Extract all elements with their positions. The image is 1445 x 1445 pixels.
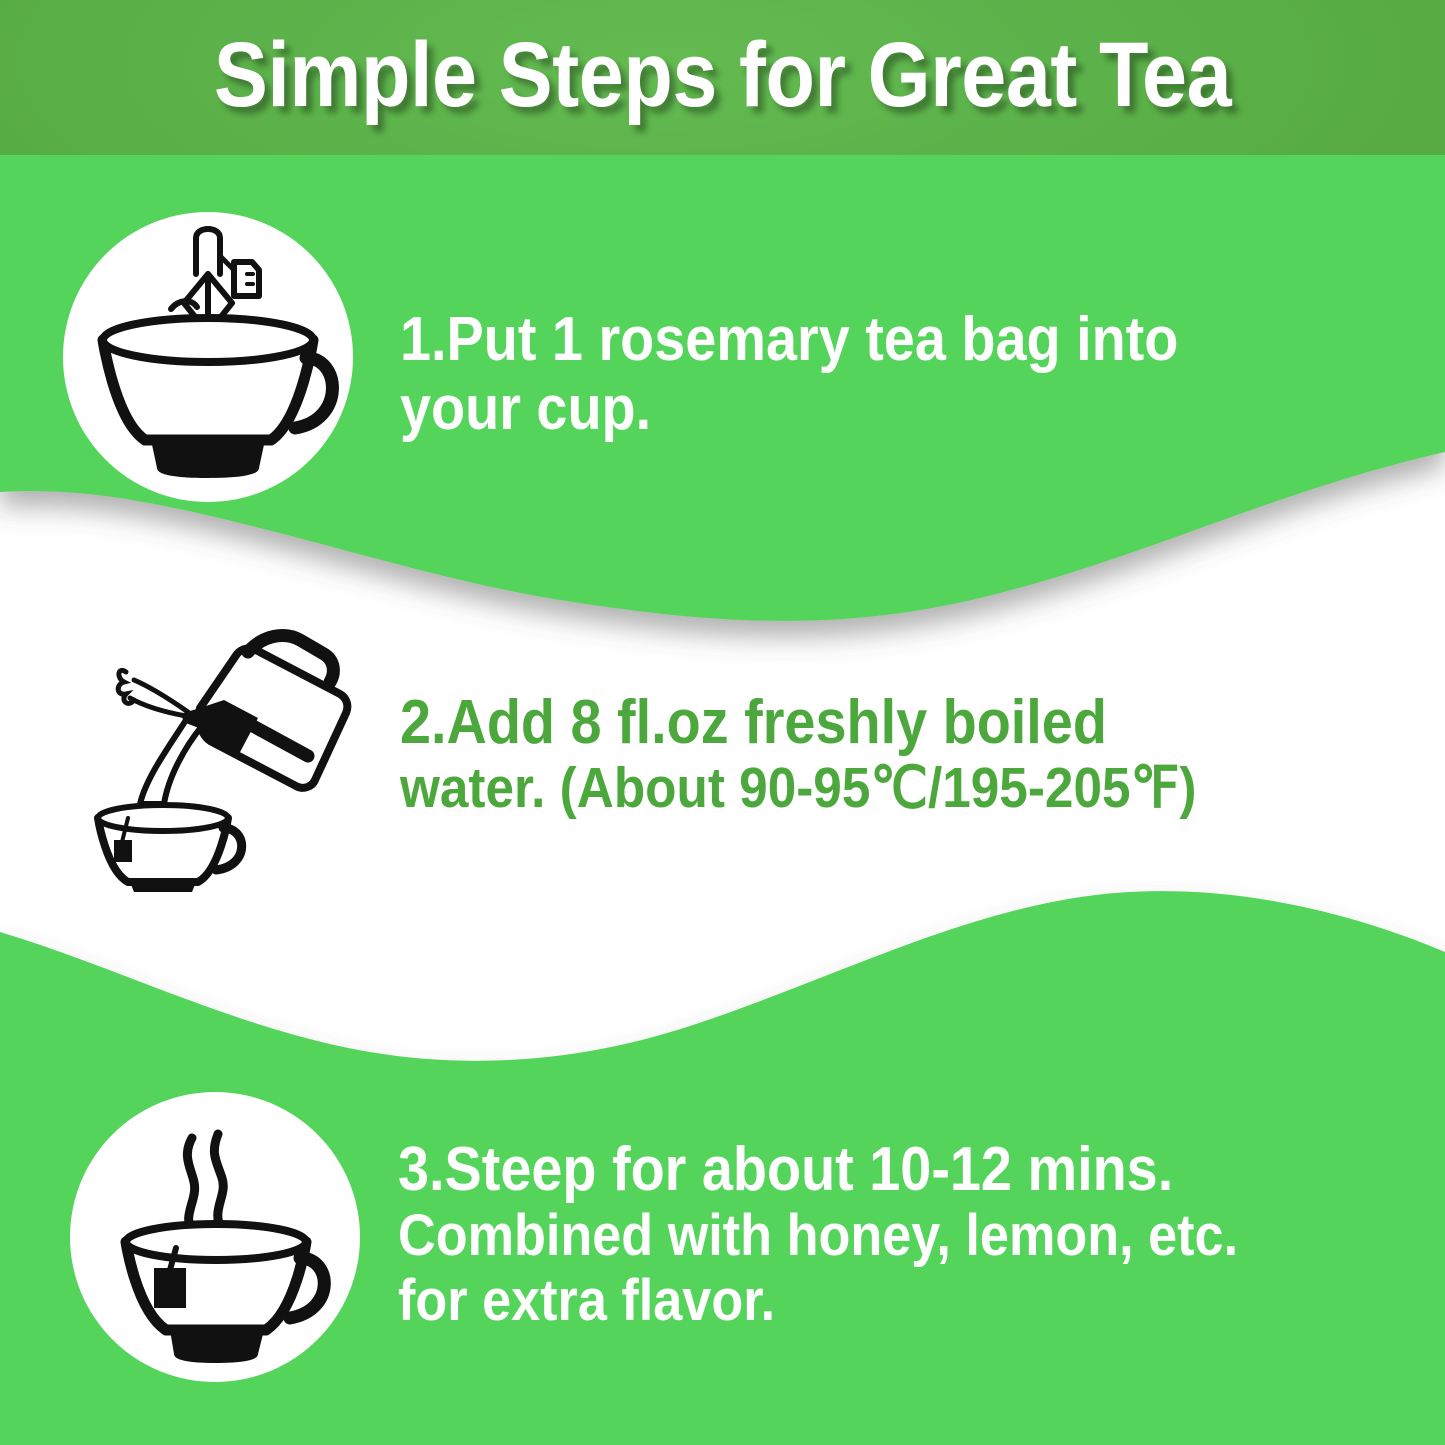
step-3-line-2: Combined with honey, lemon, etc.	[398, 1204, 1238, 1269]
step-2-line-2: water. (About 90-95℃/195-205℉)	[400, 757, 1196, 821]
step-3-icon	[70, 1092, 360, 1382]
kettle-pouring-into-cup-icon	[72, 628, 362, 894]
step-2-text: 2.Add 8 fl.oz freshly boiled water. (Abo…	[400, 688, 1196, 821]
header-band: Simple Steps for Great Tea	[0, 0, 1445, 155]
tea-brewing-instructions-infographic: Simple Steps for Great Tea	[0, 0, 1445, 1445]
page-title: Simple Steps for Great Tea	[87, 0, 1359, 155]
step-3-line-1: 3.Steep for about 10-12 mins.	[398, 1135, 1238, 1204]
step-2-line-1: 2.Add 8 fl.oz freshly boiled	[400, 688, 1196, 757]
step-2-icon	[72, 628, 362, 894]
steaming-cup-with-teabag-icon	[70, 1092, 360, 1382]
teabag-into-cup-icon	[63, 212, 353, 502]
step-3-text: 3.Steep for about 10-12 mins. Combined w…	[398, 1135, 1238, 1334]
step-3-line-3: for extra flavor.	[398, 1269, 1238, 1334]
step-1-line-2: your cup.	[400, 374, 1178, 443]
step-1-line-1: 1.Put 1 rosemary tea bag into	[400, 305, 1178, 374]
step-1-icon	[63, 212, 353, 502]
step-1-text: 1.Put 1 rosemary tea bag into your cup.	[400, 305, 1178, 444]
